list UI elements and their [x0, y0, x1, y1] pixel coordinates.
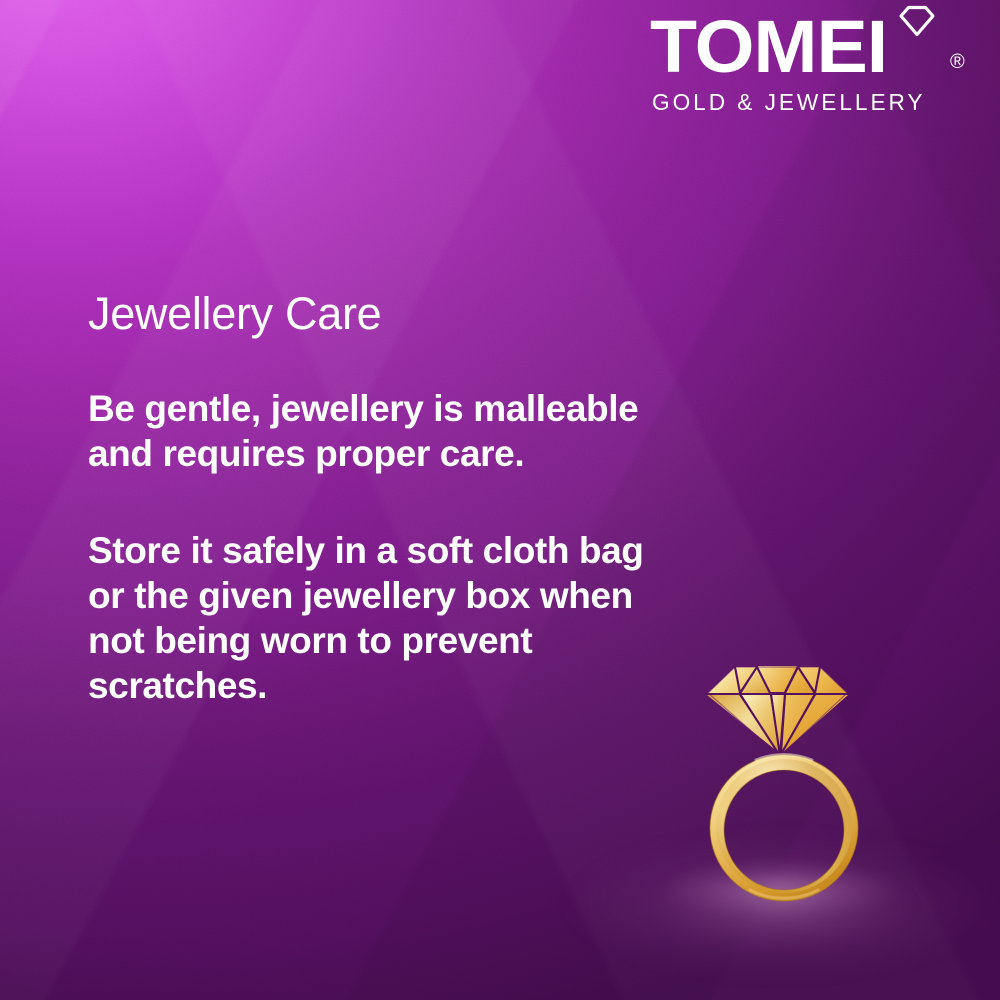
registered-trademark-icon: ®: [950, 52, 965, 72]
logo-tagline: GOLD & JEWELLERY: [652, 88, 957, 116]
care-tip-paragraph-1: Be gentle, jewellery is malleable and re…: [88, 386, 678, 476]
tomei-logo[interactable]: TOMEI ® GOLD & JEWELLERY: [650, 8, 980, 86]
diamond-outline-icon: [895, 5, 939, 37]
page-title: Jewellery Care: [88, 288, 678, 340]
care-copy-block: Jewellery Care Be gentle, jewellery is m…: [88, 288, 678, 708]
diamond-gem: [707, 666, 848, 756]
gold-band: [710, 755, 858, 901]
jewellery-care-poster: TOMEI ® GOLD & JEWELLERY Jewellery Care …: [0, 0, 1000, 1000]
diamond-ring-illustration: [694, 640, 874, 910]
care-tip-paragraph-2: Store it safely in a soft cloth bag or t…: [88, 528, 678, 708]
logo-mark-row: TOMEI ®: [650, 8, 980, 86]
